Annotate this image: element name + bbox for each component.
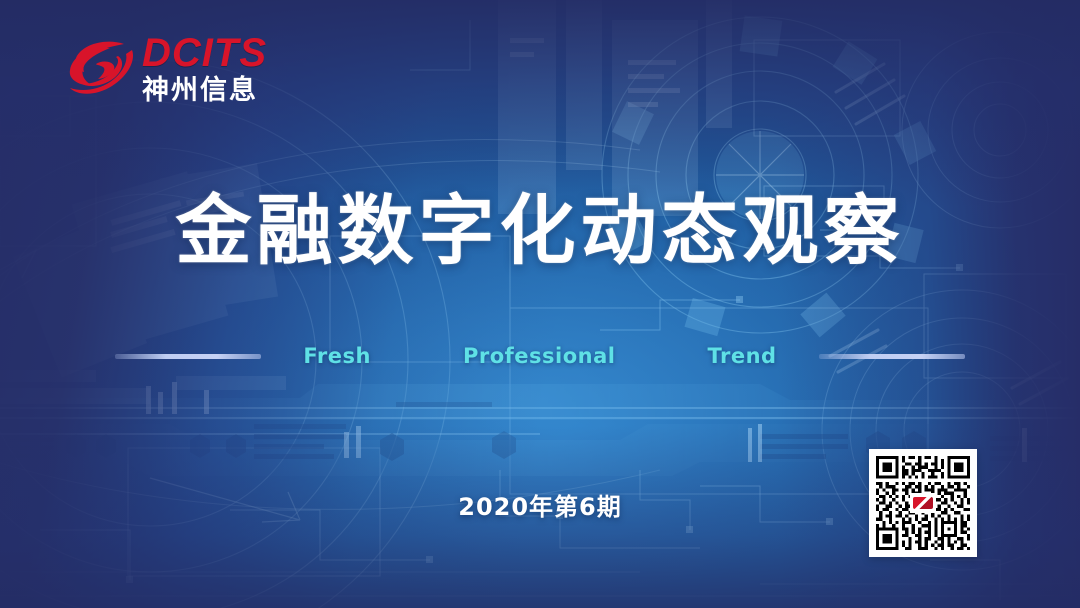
tagline-rule-right — [819, 354, 965, 359]
brand-logo-text: DCITS 神州信息 — [142, 32, 267, 106]
tagline-word-trend: Trend — [707, 344, 776, 368]
brand-name-cn: 神州信息 — [142, 76, 267, 106]
qr-center-logo — [910, 493, 936, 513]
dcits-swirl-logo-icon — [66, 36, 140, 102]
qr-code[interactable] — [869, 449, 977, 557]
poster-canvas: DCITS 神州信息 金融数字化动态观察 Fresh Professional … — [0, 0, 1080, 608]
tagline-word-fresh: Fresh — [303, 344, 371, 368]
tagline-rule-left — [115, 354, 261, 359]
tagline-word-professional: Professional — [463, 344, 616, 368]
tagline-row: Fresh Professional Trend — [0, 339, 1080, 373]
brand-logo: DCITS 神州信息 — [66, 30, 276, 110]
dcits-logo-icon — [913, 497, 933, 509]
page-title: 金融数字化动态观察 — [0, 183, 1080, 279]
brand-name-en: DCITS — [142, 32, 267, 74]
